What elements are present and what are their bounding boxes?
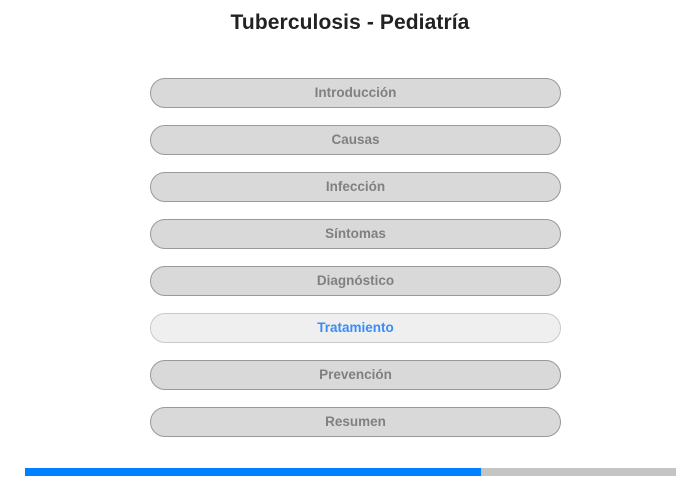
menu-button-3[interactable]: Infección	[150, 172, 561, 202]
menu-button-label: Diagnóstico	[317, 274, 394, 288]
menu-button-2[interactable]: Causas	[150, 125, 561, 155]
menu-button-8[interactable]: Resumen	[150, 407, 561, 437]
app-root: Tuberculosis - Pediatría IntroducciónCau…	[0, 0, 700, 480]
menu-button-label: Síntomas	[325, 227, 386, 241]
menu-button-label: Tratamiento	[317, 321, 394, 335]
menu-button-6[interactable]: Tratamiento	[150, 313, 561, 343]
menu-button-label: Resumen	[325, 415, 386, 429]
menu-button-label: Infección	[326, 180, 385, 194]
menu-button-label: Causas	[331, 133, 379, 147]
section-menu: IntroducciónCausasInfecciónSíntomasDiagn…	[150, 78, 561, 437]
menu-button-4[interactable]: Síntomas	[150, 219, 561, 249]
menu-button-5[interactable]: Diagnóstico	[150, 266, 561, 296]
menu-button-1[interactable]: Introducción	[150, 78, 561, 108]
progress-bar	[25, 468, 676, 476]
menu-button-label: Introducción	[315, 86, 397, 100]
page-title: Tuberculosis - Pediatría	[0, 10, 700, 36]
progress-bar-fill	[25, 468, 481, 476]
menu-button-label: Prevención	[319, 368, 392, 382]
menu-button-7[interactable]: Prevención	[150, 360, 561, 390]
